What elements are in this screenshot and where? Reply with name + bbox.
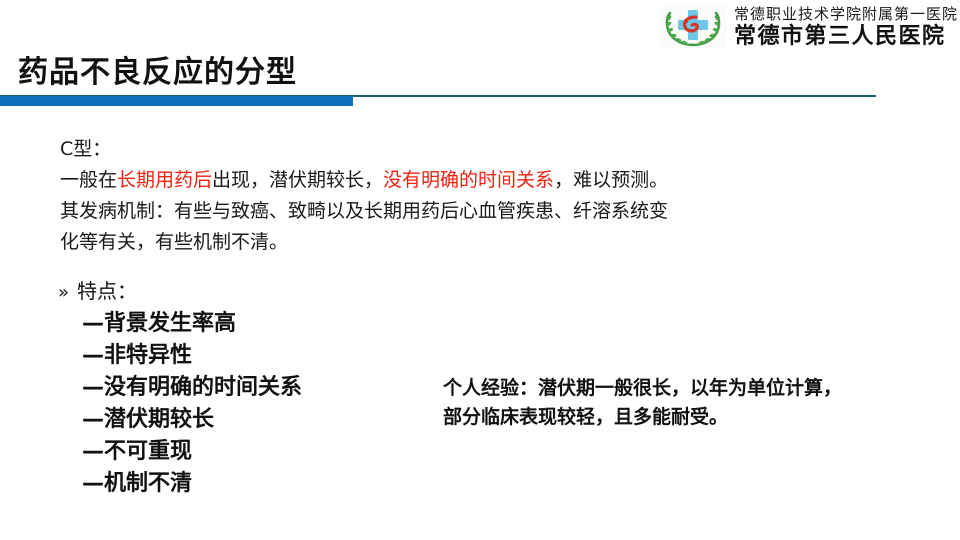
hospital-name-block: 常德职业技术学院附属第一医院 常德市第三人民医院 — [734, 7, 958, 47]
page-title: 药品不良反应的分型 — [18, 47, 297, 91]
note-line-1: 个人经验：潜伏期一般很长，以年为单位计算， — [443, 374, 943, 403]
hospital-logo-block: 常德职业技术学院附属第一医院 常德市第三人民医院 — [660, 1, 958, 53]
desc-text-pre: 一般在 — [60, 169, 117, 191]
hospital-main-name: 常德市第三人民医院 — [734, 25, 958, 47]
desc-text-mid: 出现，潜伏期较长， — [212, 169, 383, 191]
description-line-3: 化等有关，有些机制不清。 — [60, 227, 890, 258]
list-item: —非特异性 — [82, 340, 302, 372]
type-label: C型： — [60, 134, 890, 165]
body-paragraph: C型： 一般在长期用药后出现，潜伏期较长，没有明确的时间关系，难以预测。 其发病… — [60, 134, 890, 258]
hospital-affiliate-name: 常德职业技术学院附属第一医院 — [734, 7, 958, 22]
title-accent-bar — [0, 96, 353, 106]
list-item: —背景发生率高 — [82, 308, 302, 340]
desc-highlight-1: 长期用药后 — [117, 169, 212, 191]
feature-list-heading: »特点： — [58, 276, 302, 308]
list-item: —没有明确的时间关系 — [82, 372, 302, 404]
feature-list: »特点： —背景发生率高 —非特异性 —没有明确的时间关系 —潜伏期较长 —不可… — [58, 276, 302, 500]
desc-highlight-2: 没有明确的时间关系 — [383, 169, 554, 191]
double-chevron-right-icon: » — [58, 282, 69, 303]
note-line-2: 部分临床表现较轻，且多能耐受。 — [443, 403, 943, 432]
list-item: —不可重现 — [82, 436, 302, 468]
personal-experience-note: 个人经验：潜伏期一般很长，以年为单位计算， 部分临床表现较轻，且多能耐受。 — [443, 374, 943, 432]
presentation-slide: 常德职业技术学院附属第一医院 常德市第三人民医院 药品不良反应的分型 C型： 一… — [0, 0, 960, 540]
description-line-2: 其发病机制：有些与致癌、致畸以及长期用药后心血管疾患、纤溶系统变 — [60, 196, 890, 227]
feature-heading-label: 特点： — [77, 279, 137, 303]
hospital-wreath-cross-logo-icon — [660, 5, 726, 49]
list-item: —机制不清 — [82, 468, 302, 500]
description-line-1: 一般在长期用药后出现，潜伏期较长，没有明确的时间关系，难以预测。 — [60, 165, 890, 196]
desc-text-post: ，难以预测。 — [554, 169, 668, 191]
list-item: —潜伏期较长 — [82, 404, 302, 436]
